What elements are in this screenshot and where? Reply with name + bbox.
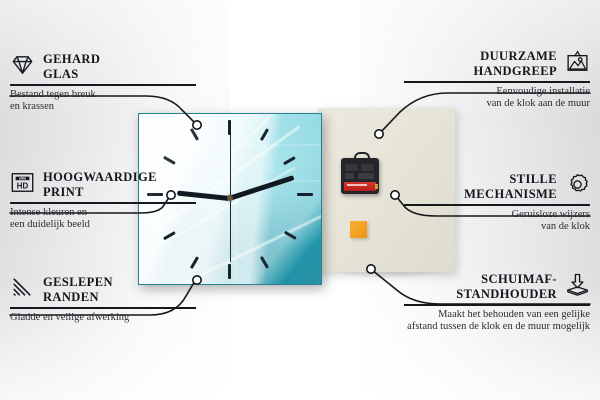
feature-title: GESLEPEN RANDEN [43,275,113,304]
wire-endpoint-dot [375,130,383,138]
feature-header: SCHUIMAF- STANDHOUDER [398,272,590,301]
feature-gehard-glas[interactable]: GEHARD GLAS Bestand tegen breuk en krass… [10,52,202,114]
ultra-hd-icon: ultra HD [10,170,35,195]
feature-divider [404,204,590,206]
feature-divider [10,202,196,204]
feature-subtitle-1: Maakt het behouden van een gelijke [360,309,590,322]
feature-stille-mechanisme[interactable]: STILLE MECHANISME Geruisloze wijzers van… [398,172,590,234]
svg-text:ultra: ultra [19,177,26,181]
feature-divider [10,84,196,86]
wire-endpoint-dot [367,265,375,273]
feature-subtitle-2: en krassen [10,101,202,114]
feature-schuimaf-standhouder[interactable]: SCHUIMAF- STANDHOUDER Maakt het behouden… [398,272,590,334]
feature-divider [404,81,590,83]
feature-subtitle-1: Geruisloze wijzers [398,209,590,222]
diamond-icon [10,52,35,77]
feature-divider [404,304,590,306]
feature-title: HOOGWAARDIGE PRINT [43,170,157,199]
beveled-edges-icon [10,275,35,300]
feature-subtitle-2: van de klok [398,221,590,234]
feature-subtitle-1: Gladde en veilige afwerking [10,312,202,325]
feature-title: GEHARD GLAS [43,52,100,81]
feature-divider [10,307,196,309]
feature-subtitle-1: Intense kleuren en [10,207,202,220]
svg-text:HD: HD [17,182,29,191]
feature-subtitle-2: een duidelijk beeld [10,219,202,232]
feature-subtitle-1: Eenvoudige installatie [398,86,590,99]
picture-frame-icon [565,49,590,74]
feature-subtitle-1: Bestand tegen breuk [10,89,202,102]
feature-title: SCHUIMAF- STANDHOUDER [456,272,557,301]
feature-geslepen-randen[interactable]: GESLEPEN RANDEN Gladde en veilige afwerk… [10,275,202,324]
feature-header: DUURZAME HANDGREEP [398,49,590,78]
wire-endpoint-dot [193,121,201,129]
feature-duurzame-handgreep[interactable]: DUURZAME HANDGREEP Eenvoudige installati… [398,49,590,111]
feature-title: DUURZAME HANDGREEP [474,49,557,78]
feature-header: GEHARD GLAS [10,52,202,81]
feature-title: STILLE MECHANISME [464,172,557,201]
feature-subtitle-2: van de klok aan de muur [398,98,590,111]
feature-header: STILLE MECHANISME [398,172,590,201]
feature-header: ultra HD HOOGWAARDIGE PRINT [10,170,202,199]
feature-header: GESLEPEN RANDEN [10,275,202,304]
press-down-pad-icon [565,272,590,297]
gear-icon [565,172,590,197]
feature-subtitle-2: afstand tussen de klok en de muur mogeli… [360,321,590,334]
feature-hoogwaardige-print[interactable]: ultra HD HOOGWAARDIGE PRINT Intense kleu… [10,170,202,232]
infographic-canvas: GEHARD GLAS Bestand tegen breuk en krass… [0,0,600,400]
